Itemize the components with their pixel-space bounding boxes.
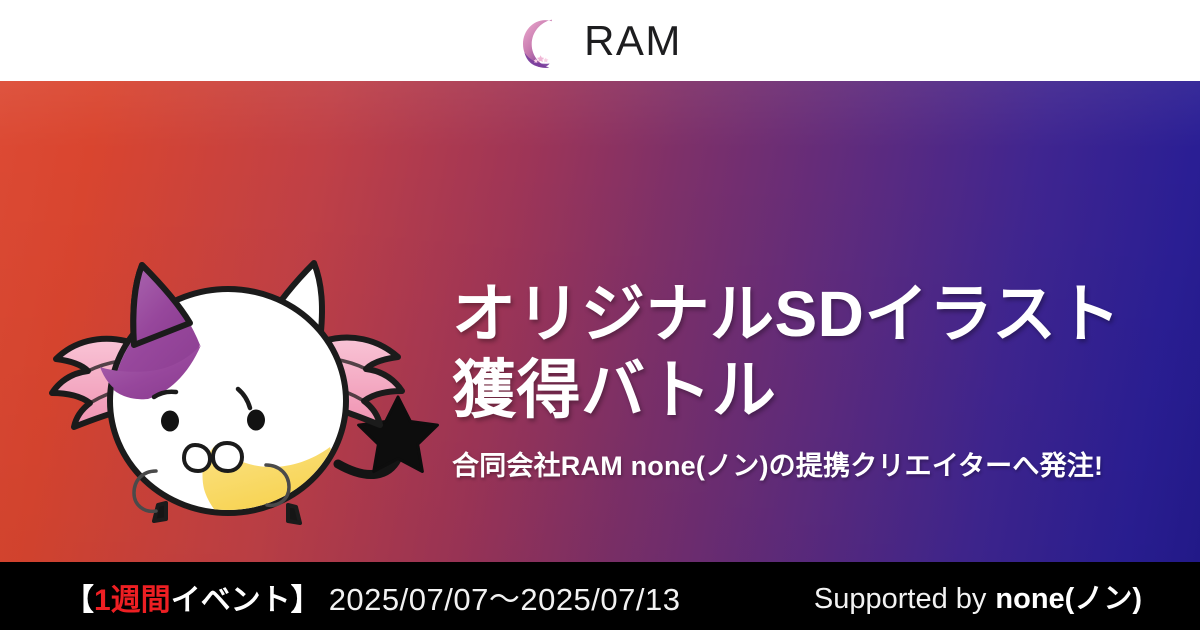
hero-subheadline: 合同会社RAM none(ノン)の提携クリエイターへ発注!: [452, 450, 1152, 484]
crescent-moon-star-icon: [518, 16, 570, 68]
supported-by-label: Supported by: [814, 583, 987, 616]
bracket-open: 【: [64, 575, 94, 619]
page-title: オリジナルSDイラスト 獲得バトル: [452, 277, 1152, 428]
event-period-group: 【1週間イベント】 2025/07/07〜2025/07/13: [64, 574, 681, 619]
hero-gradient-band: オリジナルSDイラスト 獲得バトル 合同会社RAM none(ノン)の提携クリエ…: [0, 81, 1200, 562]
event-date-range: 2025/07/07〜2025/07/13: [329, 574, 681, 619]
banner-footer: 【1週間イベント】 2025/07/07〜2025/07/13 Supporte…: [0, 562, 1200, 630]
brand-name: RAM: [584, 20, 682, 62]
event-banner: RAM: [0, 0, 1200, 630]
banner-header: RAM: [0, 0, 1200, 81]
event-word-label: イベント】: [171, 575, 321, 619]
headline-line-2: 獲得バトル: [452, 353, 1152, 429]
supported-by-group: Supported by none(ノン): [814, 575, 1142, 617]
supporter-brand-name: none(ノン): [995, 575, 1142, 617]
duration-badge: 1週間: [94, 575, 171, 619]
brand-logo-lockup[interactable]: RAM: [518, 15, 682, 67]
winged-cat-mascot: [38, 249, 458, 561]
headline-line-1: オリジナルSDイラスト: [452, 278, 1121, 350]
hero-copy-block: オリジナルSDイラスト 獲得バトル 合同会社RAM none(ノン)の提携クリエ…: [452, 277, 1152, 484]
